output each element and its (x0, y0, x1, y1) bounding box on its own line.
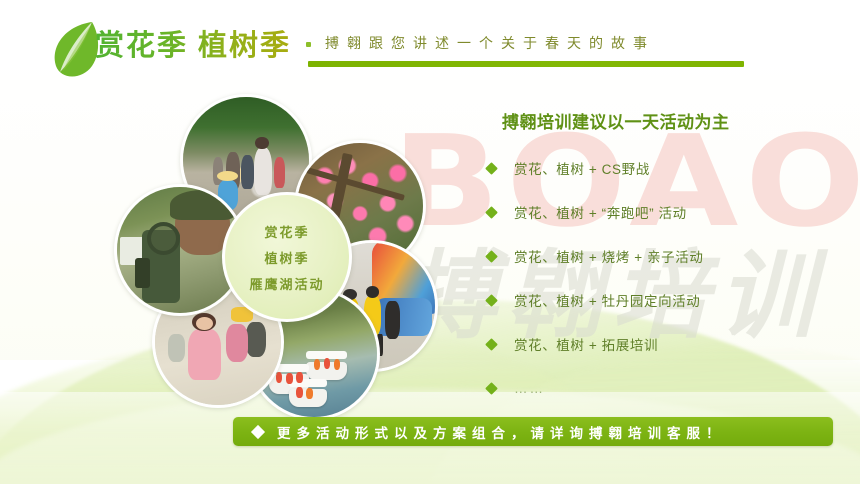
content-heading: 搏翱培训建议以一天活动为主 (502, 108, 847, 133)
center-line-3: 雁鹰湖活动 (249, 274, 324, 293)
activity-list: 赏花、植树 + CS野战 赏花、植树 + “奔跑吧” 活动 赏花、植树 + 烧烤… (487, 155, 847, 401)
center-line-2: 植树季 (264, 248, 309, 267)
content-panel: 搏翱培训建议以一天活动为主 赏花、植树 + CS野战 赏花、植树 + “奔跑吧”… (487, 108, 847, 419)
list-item-label: 赏花、植树 + 烧烤 + 亲子活动 (514, 246, 703, 266)
photo-flower-cluster: 赏花季 植树季 雁鹰湖活动 (108, 92, 424, 412)
center-line-1: 赏花季 (264, 222, 309, 241)
header-rule (308, 61, 744, 67)
list-item: 赏花、植树 + 牡丹园定向活动 (487, 287, 847, 313)
cluster-center-label: 赏花季 植树季 雁鹰湖活动 (222, 192, 352, 322)
diamond-icon (485, 294, 498, 307)
diamond-icon (485, 382, 498, 395)
list-item: 赏花、植树 + 拓展培训 (487, 331, 847, 357)
diamond-icon (485, 250, 498, 263)
footer-banner: 更多活动形式以及方案组合，请详询搏翱培训客服！ (233, 417, 833, 446)
poster-canvas: BOAO 搏翱培训 赏花季 植树季 搏翱跟您讲述一个关于春天的故事 (0, 0, 860, 484)
list-item: 赏花、植树 + “奔跑吧” 活动 (487, 199, 847, 225)
list-item: 赏花、植树 + CS野战 (487, 155, 847, 181)
list-item: …… (487, 375, 847, 401)
list-item-label: 赏花、植树 + 拓展培训 (514, 334, 658, 354)
list-item-label: …… (514, 381, 545, 396)
diamond-icon (251, 424, 265, 438)
page-subtitle: 搏翱跟您讲述一个关于春天的故事 (325, 33, 655, 53)
square-dot-icon (306, 42, 311, 47)
diamond-icon (485, 206, 498, 219)
list-item-label: 赏花、植树 + CS野战 (514, 158, 650, 178)
list-item-label: 赏花、植树 + “奔跑吧” 活动 (514, 202, 687, 222)
header: 赏花季 植树季 搏翱跟您讲述一个关于春天的故事 (0, 0, 860, 88)
footer-banner-text: 更多活动形式以及方案组合，请详询搏翱培训客服！ (277, 422, 726, 442)
list-item-label: 赏花、植树 + 牡丹园定向活动 (514, 290, 700, 310)
list-item: 赏花、植树 + 烧烤 + 亲子活动 (487, 243, 847, 269)
diamond-icon (485, 162, 498, 175)
diamond-icon (485, 338, 498, 351)
page-title: 赏花季 植树季 (95, 22, 291, 64)
